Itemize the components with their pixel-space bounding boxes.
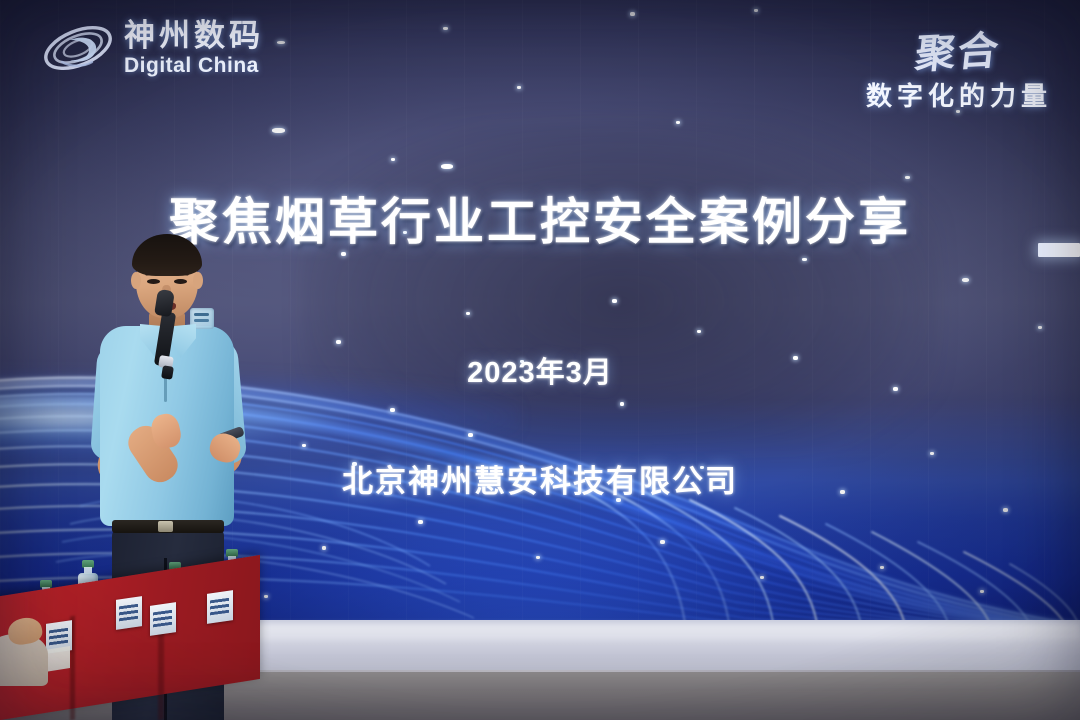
table-cloth-fold — [158, 632, 164, 720]
speaker-belt-buckle — [158, 521, 173, 532]
digital-china-wordmark: 神州数码 Digital China — [124, 20, 264, 76]
logo-chinese-name: 神州数码 — [124, 20, 264, 51]
speaker-eye-right — [174, 279, 187, 284]
name-card — [207, 590, 233, 624]
speaker-ear-left — [131, 272, 141, 289]
event-logo: 聚合 数字化的力量 — [866, 20, 1052, 113]
microphone-tail — [161, 365, 174, 380]
speaker-ear-right — [193, 272, 203, 289]
digital-china-swirl-icon — [40, 18, 116, 78]
name-card — [116, 596, 142, 630]
event-tagline: 数字化的力量 — [866, 76, 1052, 113]
stage-photo: 神州数码 Digital China 聚合 数字化的力量 聚焦烟草行业工控安全案… — [0, 0, 1080, 720]
event-calligraphy: 聚合 — [913, 18, 1004, 80]
name-card — [150, 602, 176, 636]
speaker-hair — [132, 234, 202, 276]
seated-audience-member — [0, 608, 58, 680]
digital-china-logo: 神州数码 Digital China — [40, 18, 264, 78]
speaker-eye-left — [147, 279, 160, 284]
logo-english-name: Digital China — [124, 55, 264, 76]
